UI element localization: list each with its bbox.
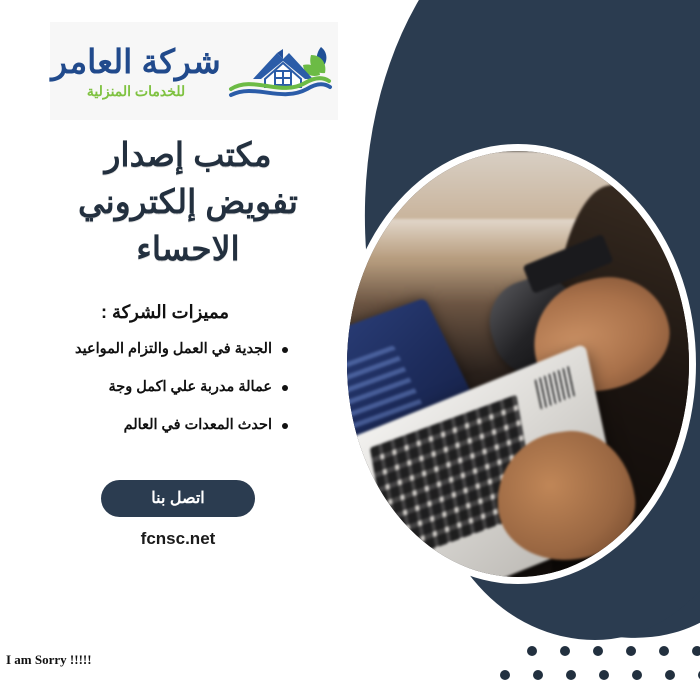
dot bbox=[500, 670, 510, 680]
company-logo[interactable]: شركة العامر للخدمات المنزلية bbox=[50, 22, 338, 120]
feature-text: عمالة مدربة علي اكمل وجة bbox=[108, 379, 272, 395]
list-item: الجدية في العمل والتزام المواعيد bbox=[40, 341, 290, 357]
dot bbox=[626, 646, 636, 656]
page-title: مكتب إصدار تفويض إلكتروني الاحساء bbox=[28, 132, 348, 273]
logo-company-name: شركة العامر bbox=[51, 45, 221, 78]
list-item: عمالة مدربة علي اكمل وجة bbox=[40, 379, 290, 395]
feature-text: الجدية في العمل والتزام المواعيد bbox=[75, 341, 272, 357]
dot bbox=[527, 646, 537, 656]
dot bbox=[659, 646, 669, 656]
cta-section: اتصل بنا fcnsc.net bbox=[68, 480, 288, 549]
contact-us-button[interactable]: اتصل بنا bbox=[101, 480, 255, 517]
dot bbox=[533, 670, 543, 680]
feature-text: احدث المعدات في العالم bbox=[124, 417, 272, 433]
photo-laptop-sticker bbox=[534, 365, 576, 409]
dot-row-top bbox=[527, 646, 700, 656]
hero-photo-content bbox=[347, 151, 689, 577]
house-leaf-logo-icon bbox=[225, 35, 337, 107]
hero-photo bbox=[340, 144, 696, 584]
poster-canvas: شركة العامر للخدمات المنزلية مكتب إصدار … bbox=[0, 0, 700, 700]
watermark-text: I am Sorry !!!!! bbox=[6, 652, 92, 668]
dot bbox=[566, 670, 576, 680]
features-title: مميزات الشركة : bbox=[40, 302, 290, 323]
dot bbox=[692, 646, 700, 656]
list-item: احدث المعدات في العالم bbox=[40, 417, 290, 433]
bullet-icon bbox=[282, 423, 288, 429]
dot bbox=[665, 670, 675, 680]
dot bbox=[632, 670, 642, 680]
website-link[interactable]: fcnsc.net bbox=[68, 529, 288, 549]
bullet-icon bbox=[282, 385, 288, 391]
headline-line-1: مكتب إصدار bbox=[28, 132, 348, 179]
dot bbox=[599, 670, 609, 680]
logo-text-block: شركة العامر للخدمات المنزلية bbox=[51, 45, 221, 98]
dot-row-bottom bbox=[500, 670, 700, 680]
logo-tagline: للخدمات المنزلية bbox=[87, 84, 185, 98]
features-section: مميزات الشركة : الجدية في العمل والتزام … bbox=[40, 302, 290, 455]
dot bbox=[560, 646, 570, 656]
headline-line-3: الاحساء bbox=[28, 226, 348, 273]
dot-grid-decoration bbox=[500, 646, 700, 694]
dot bbox=[593, 646, 603, 656]
bullet-icon bbox=[282, 347, 288, 353]
headline-line-2: تفويض إلكتروني bbox=[28, 179, 348, 226]
logo-row: شركة العامر للخدمات المنزلية bbox=[50, 22, 338, 120]
